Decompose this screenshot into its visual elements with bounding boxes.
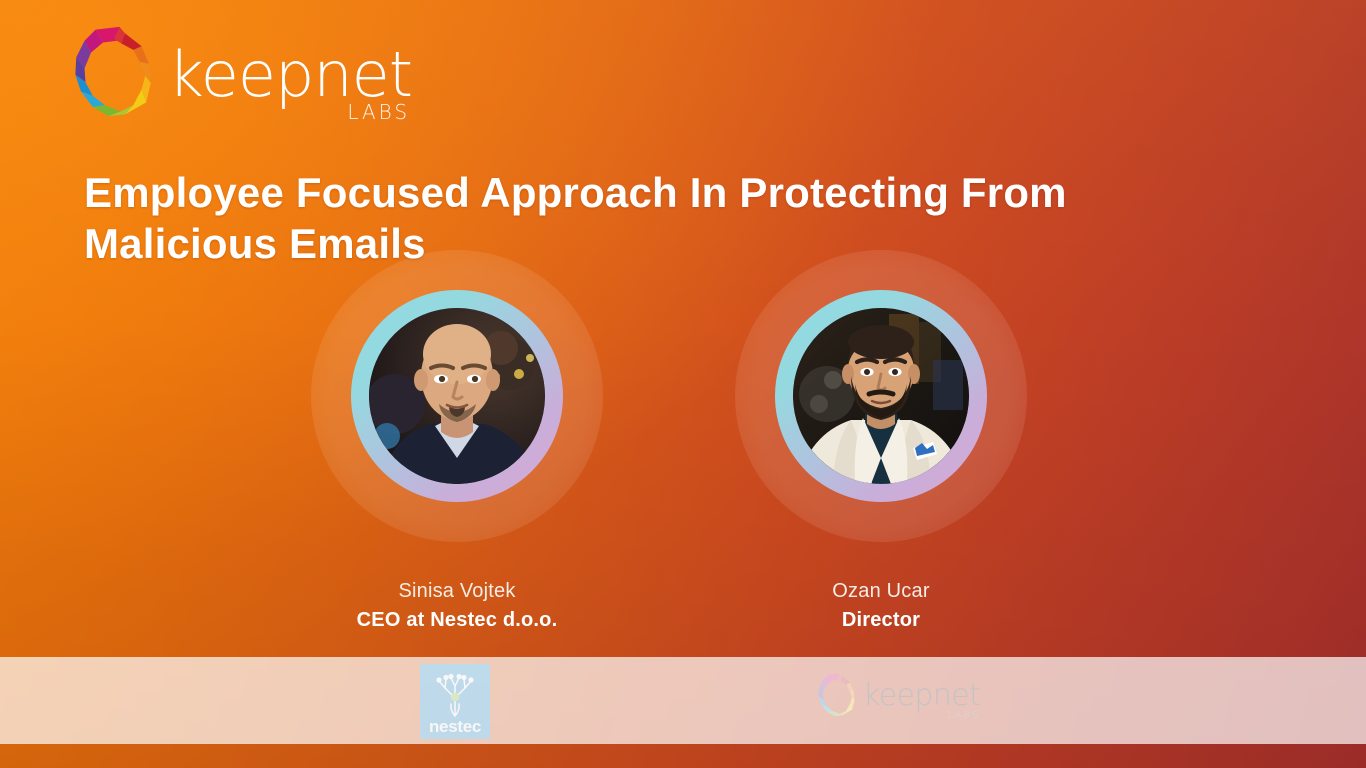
footer-band (0, 657, 1366, 744)
keepnet-wordmark: keepnet LABS (168, 40, 412, 105)
speaker-name: Sinisa Vojtek (307, 580, 607, 603)
speaker-name: Ozan Ucar (731, 580, 1031, 603)
brand-sublabel: LABS (347, 100, 410, 124)
speaker-role: Director (731, 609, 1031, 632)
presentation-slide: keepnet LABS Employee Focused Approach I… (0, 0, 1366, 768)
speaker-avatar-ring (775, 290, 987, 502)
speaker-card-ozan-ucar: Ozan Ucar Director (731, 250, 1031, 632)
speaker-avatar-ring (351, 290, 563, 502)
avatar (793, 308, 969, 484)
speaker-halo (311, 250, 603, 542)
speaker-halo (735, 250, 1027, 542)
slide-title: Employee Focused Approach In Protecting … (84, 167, 1094, 269)
avatar (369, 308, 545, 484)
brand-name: keepnet (168, 46, 412, 105)
speakers-row: Sinisa Vojtek CEO at Nestec d.o.o. (0, 250, 1366, 650)
speaker-role: CEO at Nestec d.o.o. (307, 609, 607, 632)
keepnet-brand-logo: keepnet LABS (68, 24, 412, 120)
speaker-card-sinisa-vojtek: Sinisa Vojtek CEO at Nestec d.o.o. (307, 250, 607, 632)
keepnet-hexagon-logo-icon (68, 24, 160, 120)
